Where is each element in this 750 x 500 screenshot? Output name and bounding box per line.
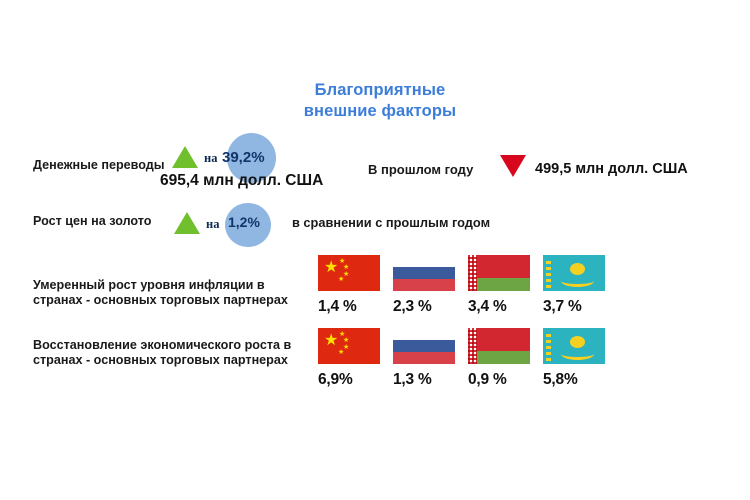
gold-change-value: 1,2% [228, 214, 260, 230]
growth-value-kazakhstan: 5,8% [543, 371, 578, 389]
transfers-last-year-label: В прошлом году [368, 162, 473, 177]
row-label-gold: Рост цен на золото [33, 214, 183, 229]
russia-blue-band [393, 267, 455, 279]
country-cell-china: ★ ★ ★ ★ ★ 1,4 % [318, 255, 384, 316]
title-line-2: внешние факторы [304, 102, 456, 120]
china-flag: ★ ★ ★ ★ ★ [318, 255, 380, 291]
kazakhstan-ornament [546, 331, 551, 361]
belarus-ornament [468, 255, 477, 291]
russia-blue-band [393, 340, 455, 352]
transfers-amount-current: 695,4 млн долл. США [160, 172, 323, 190]
inflation-value-russia: 2,3 % [393, 298, 432, 316]
growth-value-belarus: 0,9 % [468, 371, 507, 389]
transfers-amount-last-year: 499,5 млн долл. США [535, 161, 688, 177]
gold-comparison-note: в сравнении с прошлым годом [292, 215, 490, 230]
china-small-star-icon: ★ [338, 277, 344, 282]
kazakhstan-eagle-icon [565, 278, 590, 287]
country-cell-belarus: 0,9 % [468, 328, 534, 389]
kazakhstan-sun-icon [570, 263, 585, 275]
transfers-change-value: 39,2% [222, 149, 265, 166]
growth-value-china: 6,9% [318, 371, 353, 389]
gold-preposition: на [206, 217, 219, 232]
china-big-star-icon: ★ [324, 262, 338, 274]
china-small-star-icon: ★ [338, 350, 344, 355]
kazakhstan-flag [543, 255, 605, 291]
kazakhstan-eagle-icon [565, 351, 590, 360]
row-label-growth: Восстановление экономического роста в ст… [33, 338, 301, 369]
country-cell-russia: 1,3 % [393, 328, 459, 389]
growth-value-russia: 1,3 % [393, 371, 432, 389]
russia-white-band [393, 328, 455, 340]
china-flag: ★ ★ ★ ★ ★ [318, 328, 380, 364]
title-line-1: Благоприятные [315, 81, 446, 99]
kazakhstan-flag [543, 328, 605, 364]
belarus-ornament [468, 328, 477, 364]
belarus-red-band [468, 328, 530, 351]
country-cell-russia: 2,3 % [393, 255, 459, 316]
inflation-value-belarus: 3,4 % [468, 298, 507, 316]
russia-red-band [393, 279, 455, 291]
country-cell-kazakhstan: 5,8% [543, 328, 609, 389]
triangle-up-icon [174, 212, 200, 234]
flag-row-inflation: ★ ★ ★ ★ ★ 1,4 % 2,3 % 3,4 % [318, 255, 618, 316]
china-small-star-icon: ★ [343, 265, 349, 270]
kazakhstan-sun-icon [570, 336, 585, 348]
triangle-down-icon [500, 155, 526, 177]
russia-flag [393, 255, 455, 291]
belarus-red-band [468, 255, 530, 278]
russia-red-band [393, 352, 455, 364]
flag-row-growth: ★ ★ ★ ★ ★ 6,9% 1,3 % 0,9 % [318, 328, 618, 389]
country-cell-belarus: 3,4 % [468, 255, 534, 316]
country-cell-kazakhstan: 3,7 % [543, 255, 609, 316]
belarus-green-band [468, 351, 530, 364]
inflation-value-kazakhstan: 3,7 % [543, 298, 582, 316]
triangle-up-icon [172, 146, 198, 168]
inflation-value-china: 1,4 % [318, 298, 357, 316]
transfers-preposition: на [204, 151, 217, 166]
china-small-star-icon: ★ [343, 338, 349, 343]
country-cell-china: ★ ★ ★ ★ ★ 6,9% [318, 328, 384, 389]
kazakhstan-ornament [546, 258, 551, 288]
russia-white-band [393, 255, 455, 267]
russia-flag [393, 328, 455, 364]
belarus-flag [468, 328, 530, 364]
infographic-canvas: Благоприятные внешние факторы Денежные п… [0, 0, 750, 500]
belarus-green-band [468, 278, 530, 291]
belarus-flag [468, 255, 530, 291]
row-label-inflation: Умеренный рост уровня инфляции в странах… [33, 278, 301, 309]
china-big-star-icon: ★ [324, 335, 338, 347]
page-title: Благоприятные внешние факторы [250, 80, 510, 122]
